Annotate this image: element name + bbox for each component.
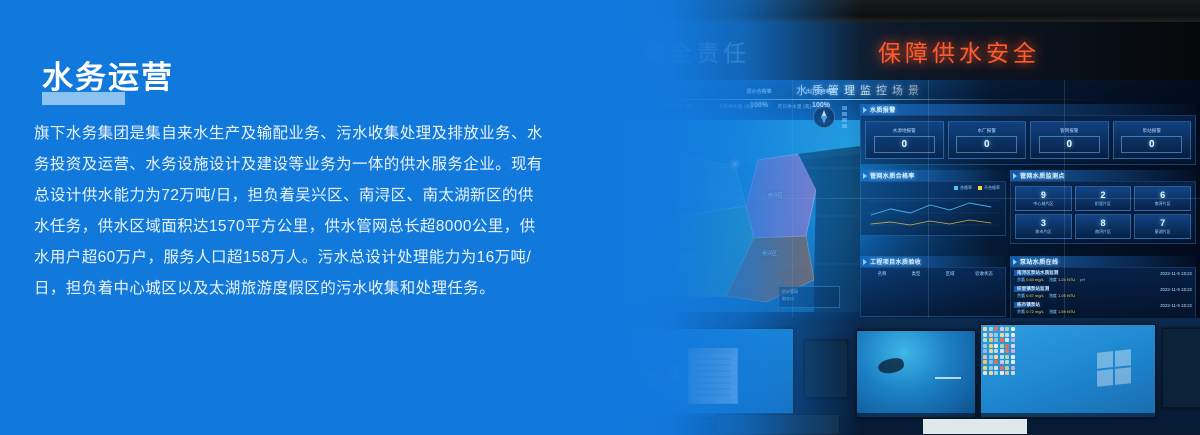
cell-label: 南浔片区 <box>1155 201 1171 207</box>
panel-monitoring-points: 管网水质监测点 9 中心城片区 2 织里片区 <box>1010 170 1196 244</box>
water-bottle <box>618 418 627 435</box>
grid-cell[interactable]: 2 织里片区 <box>1075 186 1132 211</box>
panel-title: 工程项目水质验收 <box>870 257 921 266</box>
banner-right-text: 保障供水安全 <box>878 34 1040 68</box>
grid-cell[interactable]: 7 菱湖片区 <box>1134 214 1191 239</box>
taskbar <box>857 413 975 417</box>
control-room-photo: 落实安全责任 保障供水安全 <box>520 0 1200 435</box>
log-name: 练市镇泵站 <box>1014 302 1043 308</box>
panel-header: 工程项目水质验收 <box>860 256 1006 267</box>
banner-left-text: 落实安全责任 <box>588 34 750 68</box>
chart-svg <box>861 191 1005 235</box>
spreadsheet-laptop[interactable] <box>922 418 1028 435</box>
alarm-card-value: 0 <box>1121 136 1182 153</box>
cell-label: 中心城片区 <box>1033 201 1053 207</box>
kpi-label: 昨日取水量 (吨) <box>647 104 706 110</box>
alarm-card-list: 水源地报警 0 水厂报警 0 管网报警 0 <box>861 116 1195 164</box>
window-shape <box>649 366 679 388</box>
keyboard[interactable] <box>716 414 840 435</box>
cell-label: 南浔片区 <box>1095 229 1111 235</box>
metric-label: 浊度 <box>1049 277 1057 282</box>
metric-value: 1.59 NTU <box>1058 309 1075 314</box>
video-wall: 长兴县 安吉县 德清县 南浔区 吴兴区 供水管网 取水口 水质管理监控场景 <box>520 80 1200 318</box>
alarm-card[interactable]: 水厂报警 0 <box>948 121 1027 159</box>
monitoring-point-grid: 9 中心城片区 2 织里片区 6 南浔片区 <box>1011 182 1195 243</box>
monitor-document[interactable] <box>598 328 794 418</box>
rate-kpi-value: 100% <box>736 102 782 109</box>
quality-rate-chart <box>861 191 1005 235</box>
log-name: 南浔区泵站水质监测 <box>1014 270 1061 276</box>
metric-label: 余氯 <box>1017 277 1025 282</box>
map-legend-item: 供水管网 <box>782 289 836 296</box>
column-header: 类型 <box>899 271 933 277</box>
metric-label: 浊度 <box>1049 309 1057 314</box>
alarm-card-value: 0 <box>956 136 1017 153</box>
cell-label: 菱湖片区 <box>1155 229 1171 235</box>
log-time: 2022-11-9 18:22 <box>1160 271 1192 276</box>
cell-label: 织里片区 <box>1095 201 1111 207</box>
grid-cell[interactable]: 9 中心城片区 <box>1015 186 1072 211</box>
panel-body: 合格率 不合格率 <box>860 181 1006 236</box>
panel-header: 管网水质合格率 <box>860 170 1006 181</box>
column-header: 名称 <box>865 271 899 277</box>
panel-pumpstation-online: 泵站水质在线 南浔区泵站水质监测 2022-11-9 18:22 余氯 <box>1010 256 1196 318</box>
windows-logo-icon <box>1097 349 1131 387</box>
cell-value: 9 <box>1041 190 1046 200</box>
cell-value: 8 <box>1100 218 1105 228</box>
alarm-card-value: 0 <box>1039 136 1100 153</box>
alarm-card[interactable]: 泵站报警 0 <box>1113 121 1192 159</box>
panel-project-acceptance: 工程项目水质验收 名称 类型 区域 验收状态 <box>860 256 1006 317</box>
wall-banner-row: 落实安全责任 保障供水安全 <box>520 22 1200 80</box>
panel-body: 名称 类型 区域 验收状态 <box>860 267 1006 317</box>
chart-legend: 合格率 不合格率 <box>861 182 1005 191</box>
cell-value: 3 <box>1041 218 1046 228</box>
map-region-label: 南浔区 <box>768 192 783 199</box>
gis-map: 长兴县 安吉县 德清县 南浔区 吴兴区 供水管网 取水口 <box>530 120 860 312</box>
diver-silhouette <box>877 356 905 375</box>
alarm-card-label: 水源地报警 <box>893 128 916 134</box>
grid-cell[interactable]: 6 南浔片区 <box>1134 186 1191 211</box>
alarm-card[interactable]: 水源地报警 0 <box>865 121 944 159</box>
title-underline <box>42 92 125 105</box>
alarm-card-label: 管网报警 <box>1060 128 1078 134</box>
map-svg <box>530 120 860 312</box>
map-region-label: 安吉县 <box>560 270 575 277</box>
window-titlebar <box>689 349 737 354</box>
map-region-label: 长兴县 <box>640 172 655 179</box>
text-panel: 水务运营 旗下水务集团是集自来水生产及输配业务、污水收集处理及排放业务、水务投资… <box>0 0 560 435</box>
column-header: 验收状态 <box>967 271 1001 277</box>
alarm-card-value: 0 <box>874 136 935 153</box>
log-time: 2022-11-9 18:22 <box>1160 287 1192 292</box>
log-header: 织里镇泵站监测 2022-11-9 18:22 <box>1014 286 1192 292</box>
panel-title: 管网水质合格率 <box>870 171 915 180</box>
metric-label: 余氯 <box>1017 309 1025 314</box>
metric-value: 1.05 NTU <box>1058 293 1075 298</box>
desktop-icons[interactable] <box>983 327 1015 375</box>
log-item[interactable]: 织里镇泵站监测 2022-11-9 18:22 余氯 0.57 mg/L 浊度 … <box>1014 286 1192 299</box>
column-header: 区域 <box>933 271 967 277</box>
map-region-label: 吴兴区 <box>762 250 777 257</box>
document-window[interactable] <box>688 348 738 404</box>
monitor-back-small[interactable] <box>804 340 848 398</box>
panel-title: 水质报警 <box>870 105 896 114</box>
monitor-underwater[interactable] <box>856 330 976 418</box>
log-item[interactable]: 南浔区泵站水质监测 2022-11-9 18:22 余氯 0.64 mg/L 浊… <box>1014 270 1192 283</box>
metric-label: 浊度 <box>1049 293 1057 298</box>
cell-value: 6 <box>1160 190 1165 200</box>
metric-value: 0.64 mg/L <box>1026 277 1044 282</box>
operator-desk <box>520 318 1200 435</box>
panel-body: 9 中心城片区 2 织里片区 6 南浔片区 <box>1010 181 1196 244</box>
caption-bar <box>935 377 961 379</box>
monitor-right-off[interactable] <box>1162 328 1200 408</box>
log-metrics: 余氯 0.72 mg/L 浊度 1.59 NTU <box>1014 309 1192 315</box>
log-item[interactable]: 练市镇泵站 2022-11-9 18:22 余氯 0.72 mg/L 浊度 1.… <box>1014 302 1192 315</box>
alarm-card-label: 泵站报警 <box>1143 128 1161 134</box>
page-title: 水务运营 <box>42 52 174 97</box>
grid-cell[interactable]: 8 南浔片区 <box>1075 214 1132 239</box>
cell-value: 2 <box>1100 190 1105 200</box>
panel-header: 水质报警 <box>860 104 1196 115</box>
grid-cell[interactable]: 3 练市片区 <box>1015 214 1072 239</box>
panel-title: 管网水质监测点 <box>1020 171 1065 180</box>
cell-label: 练市片区 <box>1035 229 1051 235</box>
log-time: 2022-11-9 18:22 <box>1160 303 1192 308</box>
rate-kpi-label: 原水合格率 <box>736 88 782 95</box>
dashboard-panels: 水质报警 水源地报警 0 水厂报警 0 <box>860 104 1196 318</box>
monitor-windows-desktop[interactable] <box>980 324 1156 418</box>
log-metrics: 余氯 0.64 mg/L 浊度 1.24 NTU pH <box>1014 277 1192 283</box>
panel-water-quality-alarm: 水质报警 水源地报警 0 水厂报警 0 <box>860 104 1196 165</box>
rate-kpi-value: 100% <box>798 102 844 109</box>
alarm-card[interactable]: 管网报警 0 <box>1030 121 1109 159</box>
desktop-icons[interactable] <box>601 331 605 396</box>
panel-header: 泵站水质在线 <box>1010 256 1196 267</box>
panel-header: 管网水质监测点 <box>1010 170 1196 181</box>
log-name: 织里镇泵站监测 <box>1014 286 1052 292</box>
water-operations-banner: 落实安全责任 保障供水安全 <box>0 0 1200 435</box>
panel-body: 水源地报警 0 水厂报警 0 管网报警 0 <box>860 115 1196 165</box>
map-legend-item: 取水口 <box>782 296 836 303</box>
metric-value: 0.57 mg/L <box>1026 293 1044 298</box>
panel-body: 南浔区泵站水质监测 2022-11-9 18:22 余氯 0.64 mg/L 浊… <box>1010 267 1196 318</box>
table-header-row: 名称 类型 区域 验收状态 <box>861 268 1005 280</box>
kpi-label: 今日取水量 (吨) <box>588 104 647 110</box>
map-region-label: 德清县 <box>680 252 695 259</box>
map-legend: 供水管网 取水口 <box>778 286 840 308</box>
panel-title: 泵站水质在线 <box>1020 257 1058 266</box>
description-text: 旗下水务集团是集自来水生产及输配业务、污水收集处理及排放业务、水务投资及运营、水… <box>34 118 546 304</box>
metric-label: 余氯 <box>1017 293 1025 298</box>
cell-value: 7 <box>1160 218 1165 228</box>
log-header: 练市镇泵站 2022-11-9 18:22 <box>1014 302 1192 308</box>
metric-value: 0.72 mg/L <box>1026 309 1044 314</box>
ceiling-bezel <box>520 0 1200 22</box>
log-header: 南浔区泵站水质监测 2022-11-9 18:22 <box>1014 270 1192 276</box>
taskbar <box>981 413 1155 417</box>
log-metrics: 余氯 0.57 mg/L 浊度 1.05 NTU <box>1014 293 1192 299</box>
alarm-card-label: 水厂报警 <box>978 128 996 134</box>
log-list: 南浔区泵站水质监测 2022-11-9 18:22 余氯 0.64 mg/L 浊… <box>1011 268 1195 318</box>
metric-label: pH <box>1080 277 1085 282</box>
panel-pipe-quality-rate: 管网水质合格率 合格率 不合格率 <box>860 170 1006 236</box>
metric-value: 1.24 NTU <box>1058 277 1075 282</box>
rate-kpi-label: 出厂水合格率 <box>798 88 844 95</box>
